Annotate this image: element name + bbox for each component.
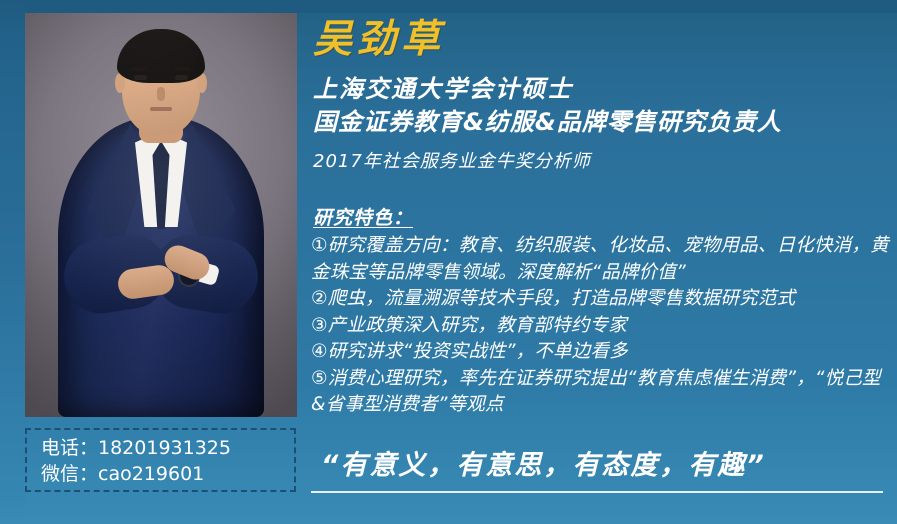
feature-item: ⑤消费心理研究，率先在证券研究提出“教育焦虑催生消费”，“悦己型&省事型消费者”… [311,366,889,419]
contact-phone: 电话：18201931325 [41,436,231,460]
feature-item: ④研究讲求“投资实战性”，不单边看多 [311,339,889,366]
contact-box: 电话：18201931325 微信：cao219601 [25,428,296,492]
features-heading: 研究特色： [313,206,413,230]
slogan-underline [311,491,883,493]
person-title: 国金证券教育&纺服&品牌零售研究负责人 [313,108,782,137]
content-column: 吴劲草 上海交通大学会计硕士 国金证券教育&纺服&品牌零售研究负责人 2017年… [309,0,891,524]
feature-item: ①研究覆盖方向：教育、纺织服装、化妆品、宠物用品、日化快消，黄金珠宝等品牌零售领… [311,233,889,286]
person-name: 吴劲草 [313,18,445,62]
left-accent-strip [0,0,25,524]
feature-item: ③产业政策深入研究，教育部特约专家 [311,313,889,340]
slogan-text: “有意义，有意思，有态度，有趣” [321,449,881,483]
photo-vignette [25,13,297,417]
contact-wechat: 微信：cao219601 [41,462,204,486]
features-list: ①研究覆盖方向：教育、纺织服装、化妆品、宠物用品、日化快消，黄金珠宝等品牌零售领… [311,233,889,419]
feature-item: ②爬虫，流量溯源等技术手段，打造品牌零售数据研究范式 [311,286,889,313]
person-education: 上海交通大学会计硕士 [313,75,573,104]
person-award: 2017年社会服务业金牛奖分析师 [313,150,591,174]
portrait-photo [25,13,297,417]
analyst-profile-card: 电话：18201931325 微信：cao219601 吴劲草 上海交通大学会计… [0,0,897,524]
